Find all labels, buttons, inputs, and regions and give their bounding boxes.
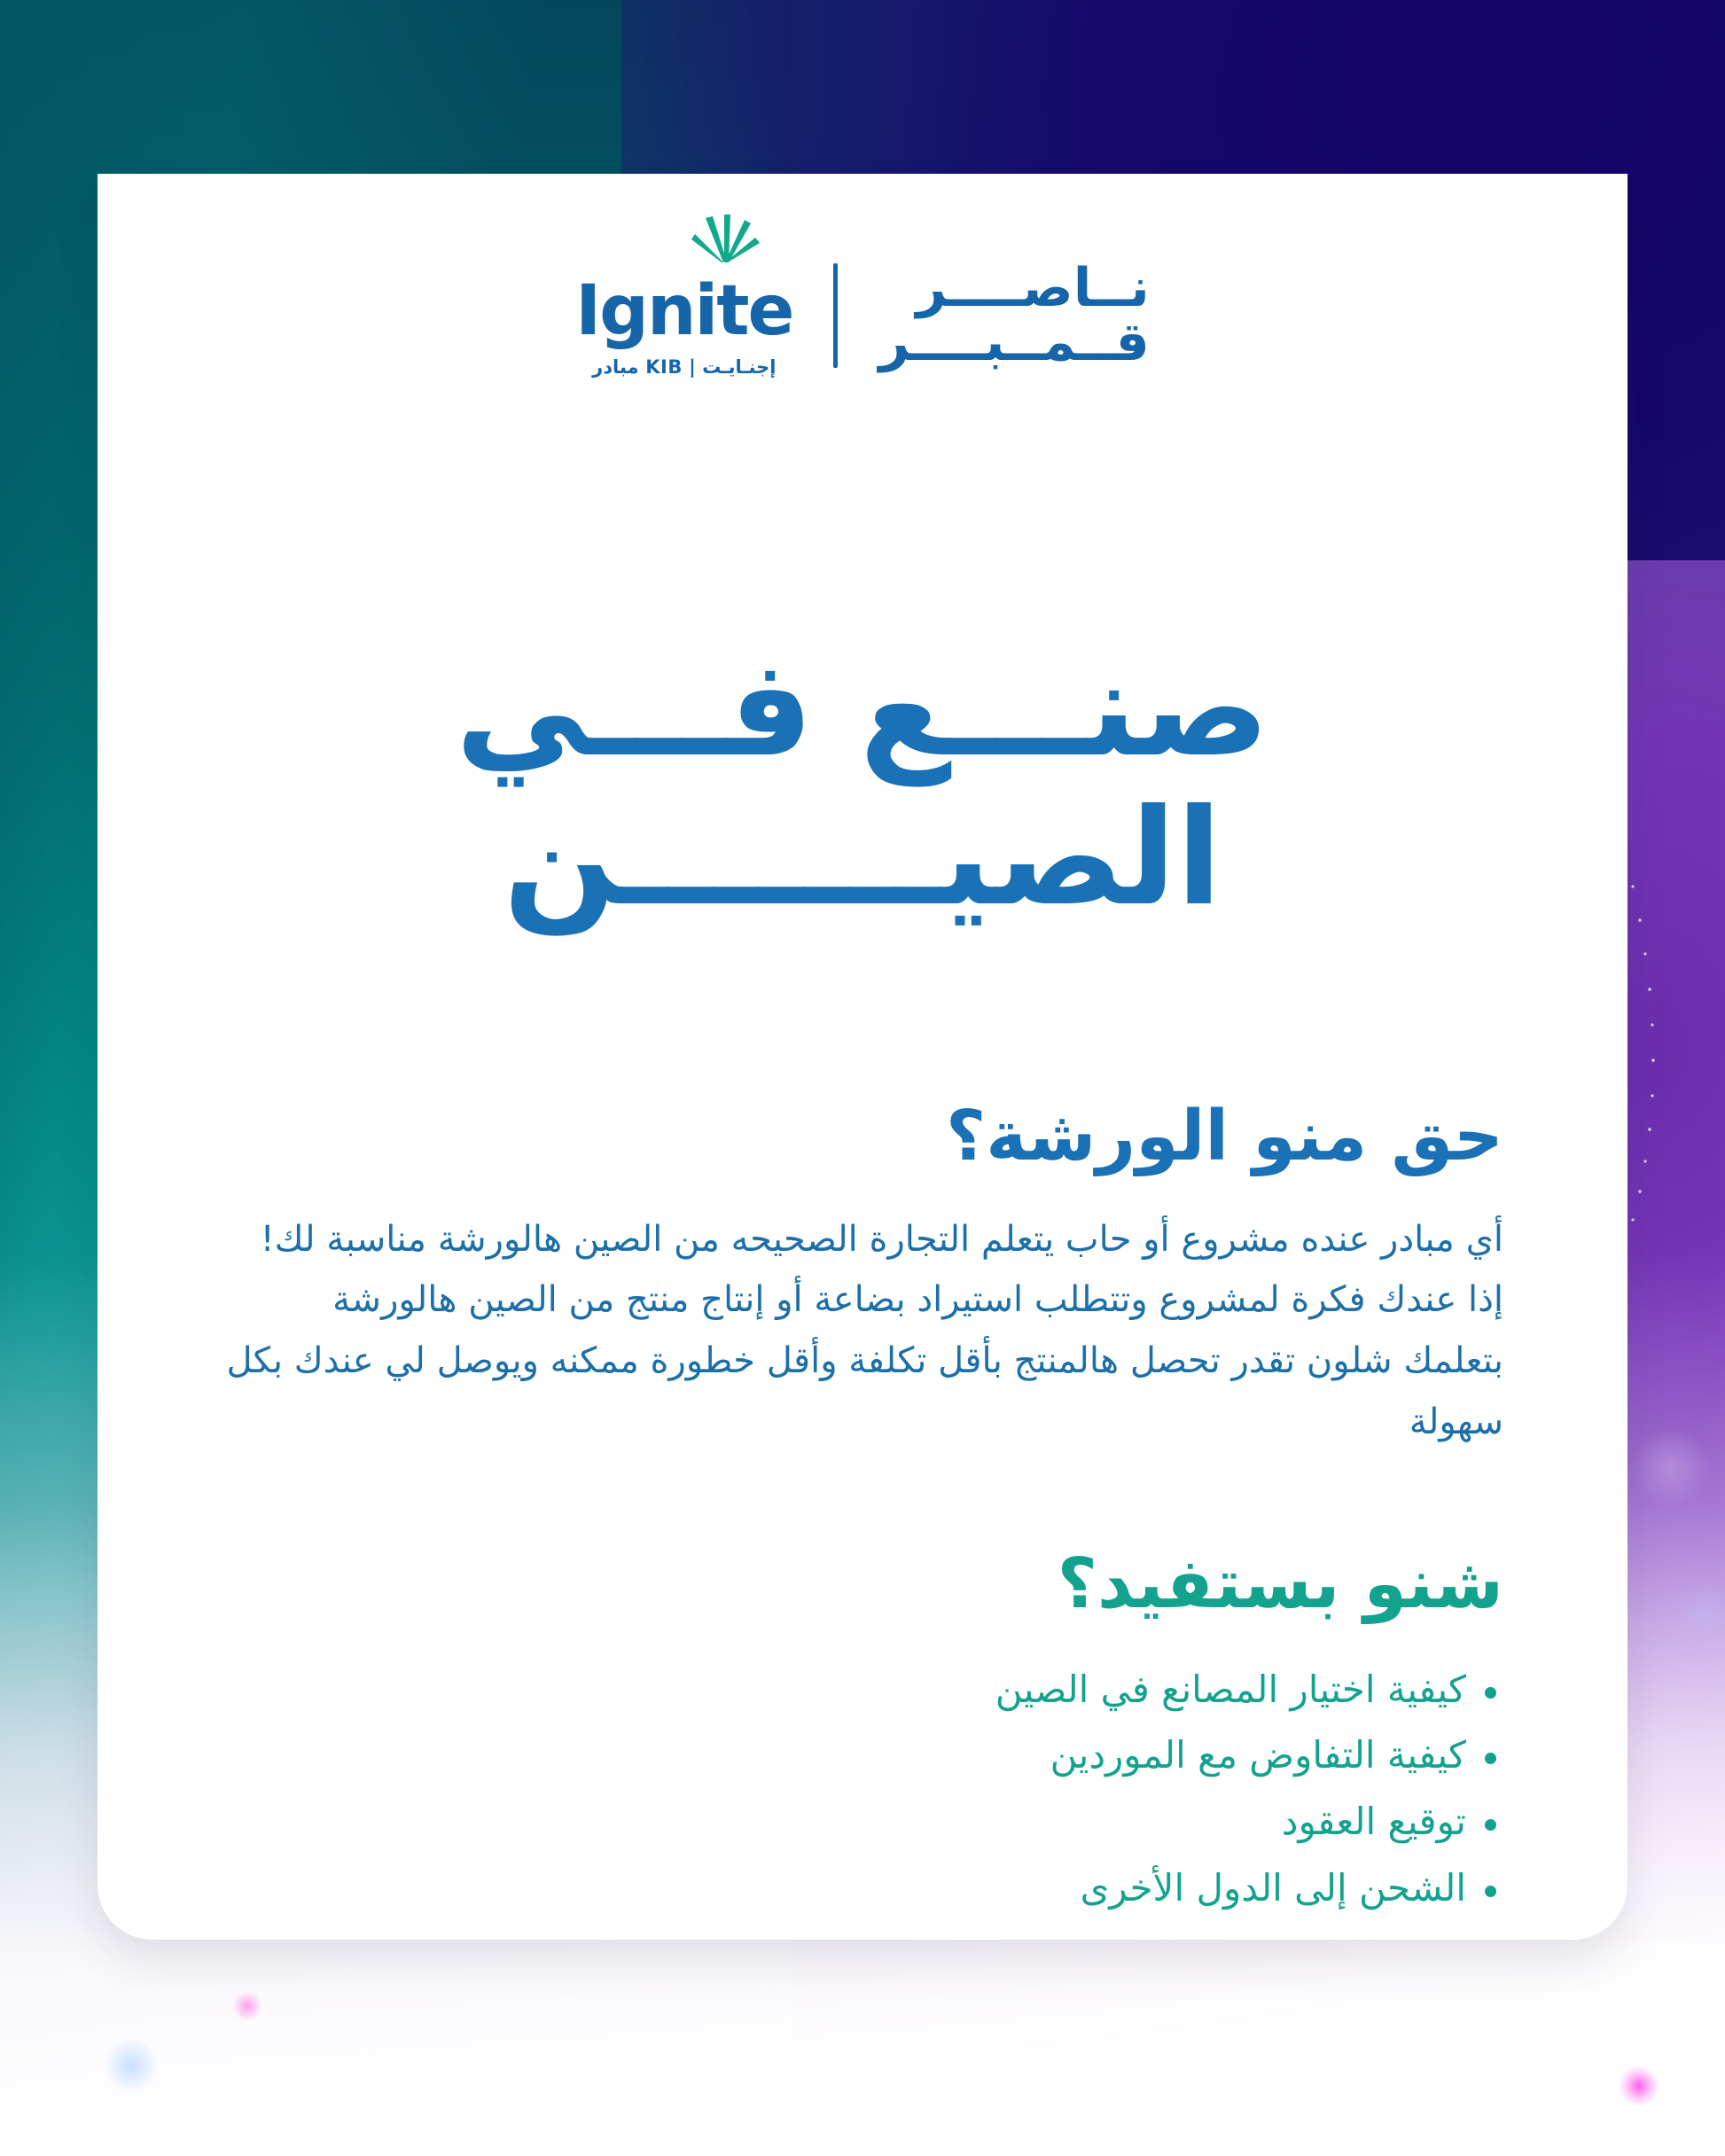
page-title-line2: الصيـــــــن: [204, 784, 1521, 933]
page-title-line1: صنـــع فـــي: [204, 635, 1521, 784]
list-item: الشحن إلى الدول الأخرى: [222, 1855, 1503, 1922]
section-benefits: شنو بستفيد؟ كيفية اختيار المصانع في الصي…: [222, 1543, 1503, 1922]
page-title: صنـــع فـــي الصيـــــــن: [98, 635, 1627, 933]
logo-lockup: Ignite إجنـايـت | KIB مبادر نــاصــــر ق…: [98, 254, 1627, 378]
partner-logo-text: نــاصــــر قــمــبــــر: [878, 262, 1149, 370]
section-workshop-body: أي مبادر عنده مشروع أو حاب يتعلم التجارة…: [222, 1209, 1503, 1453]
ignite-wordmark-text: Ignite: [575, 277, 792, 346]
poster: Ignite إجنـايـت | KIB مبادر نــاصــــر ق…: [0, 0, 1725, 2156]
logo-divider: [833, 263, 838, 368]
ignite-tagline: إجنـايـت | KIB مبادر: [592, 356, 776, 378]
list-item: كيفية التفاوض مع الموردين: [222, 1722, 1503, 1789]
partner-name-line2: قــمــبــــر: [878, 316, 1149, 370]
section-workshop-heading: حق منو الورشة؟: [222, 1096, 1503, 1179]
ignite-logo: Ignite إجنـايـت | KIB مبادر: [575, 254, 792, 378]
list-item: توقيع العقود: [222, 1789, 1503, 1855]
partner-name-line1: نــاصــــر: [878, 262, 1149, 316]
content-card: Ignite إجنـايـت | KIB مبادر نــاصــــر ق…: [98, 174, 1627, 1940]
list-item: كيفية اختيار المصانع في الصين: [222, 1657, 1503, 1723]
section-workshop: حق منو الورشة؟ أي مبادر عنده مشروع أو حا…: [222, 1096, 1503, 1453]
burst-icon: [686, 215, 762, 262]
section-benefits-heading: شنو بستفيد؟: [222, 1543, 1503, 1627]
benefits-list: كيفية اختيار المصانع في الصين كيفية التف…: [222, 1657, 1503, 1922]
